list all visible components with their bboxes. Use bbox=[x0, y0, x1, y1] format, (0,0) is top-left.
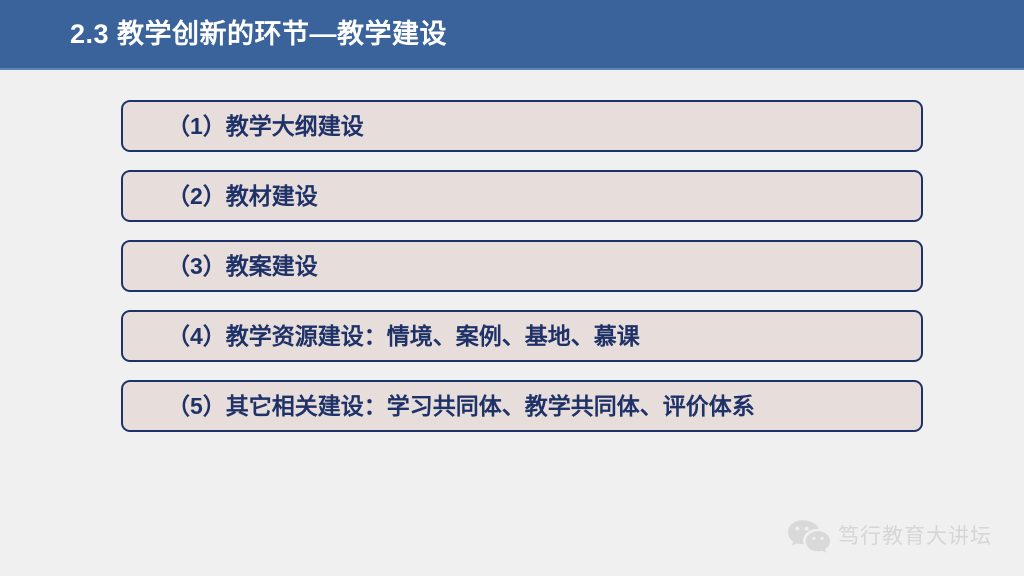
slide-header-band: 2.3 教学创新的环节—教学建设 bbox=[0, 0, 1024, 68]
content-list: （1）教学大纲建设 （2）教材建设 （3）教案建设 （4）教学资源建设：情境、案… bbox=[121, 100, 923, 432]
list-item: （4）教学资源建设：情境、案例、基地、慕课 bbox=[121, 310, 923, 362]
watermark: 笃行教育大讲坛 bbox=[786, 516, 992, 558]
list-item-label: （1）教学大纲建设 bbox=[123, 111, 372, 141]
list-item: （2）教材建设 bbox=[121, 170, 923, 222]
list-item: （1）教学大纲建设 bbox=[121, 100, 923, 152]
list-item-label: （4）教学资源建设：情境、案例、基地、慕课 bbox=[123, 321, 648, 351]
page-title: 2.3 教学创新的环节—教学建设 bbox=[70, 14, 447, 54]
wechat-icon bbox=[786, 518, 832, 556]
list-item: （5）其它相关建设：学习共同体、教学共同体、评价体系 bbox=[121, 380, 923, 432]
list-item-label: （5）其它相关建设：学习共同体、教学共同体、评价体系 bbox=[123, 391, 763, 421]
list-item-label: （2）教材建设 bbox=[123, 181, 326, 211]
list-item: （3）教案建设 bbox=[121, 240, 923, 292]
list-item-label: （3）教案建设 bbox=[123, 251, 326, 281]
header-divider bbox=[0, 68, 1024, 70]
watermark-label: 笃行教育大讲坛 bbox=[838, 523, 992, 551]
